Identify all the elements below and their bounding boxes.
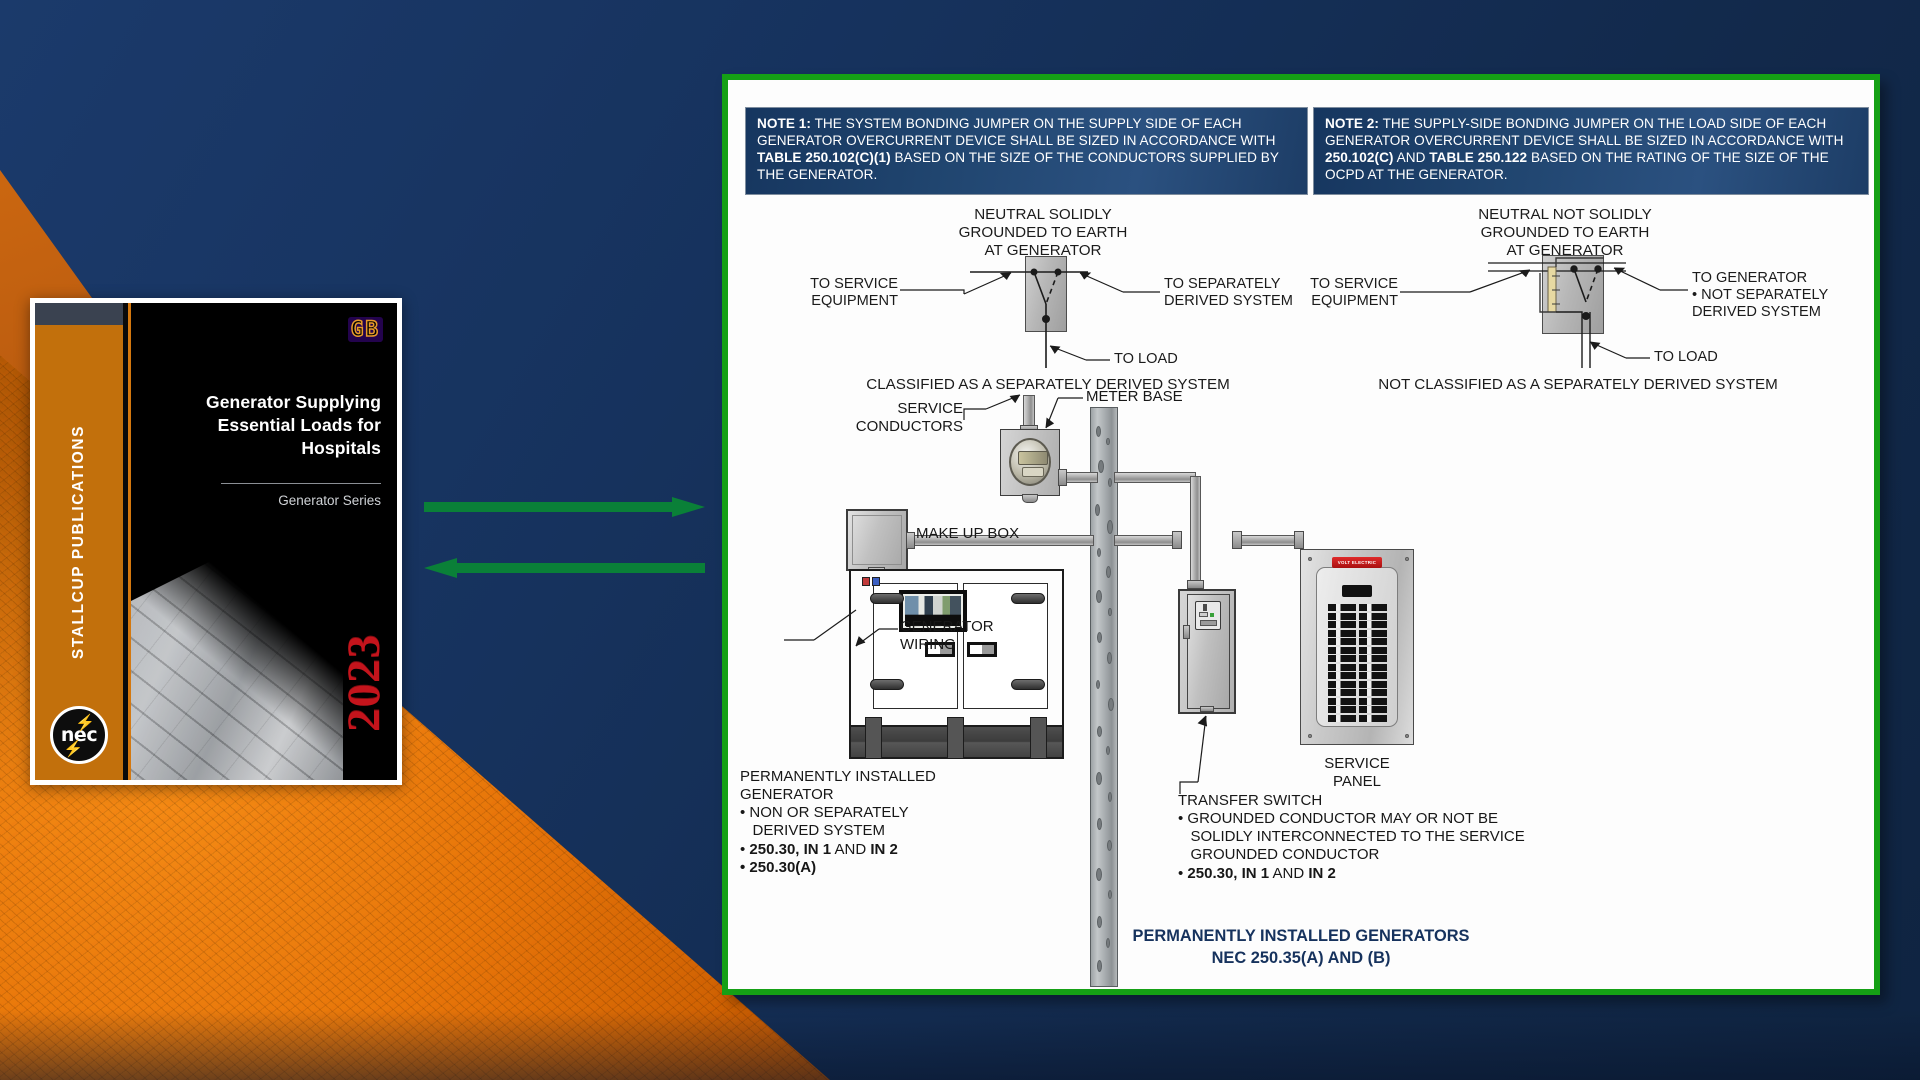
book-cover[interactable]: STALLCUP PUBLICATIONS ⚡ nec ⚡ GB Generat… bbox=[30, 298, 402, 785]
book-spine: STALLCUP PUBLICATIONS ⚡ nec ⚡ bbox=[35, 303, 123, 780]
label-meter-base: METER BASE bbox=[1086, 388, 1183, 406]
book-spine-cap bbox=[35, 303, 123, 325]
gb-logo-text: GB bbox=[351, 318, 380, 341]
transfer-switch-note-block: TRANSFER SWITCH • GROUNDED CONDUCTOR MAY… bbox=[1178, 792, 1618, 883]
book-title-rule bbox=[221, 483, 381, 484]
diagram-panel[interactable]: NOTE 1: THE SYSTEM BONDING JUMPER ON THE… bbox=[722, 74, 1880, 995]
caption-line-1: PERMANENTLY INSTALLED GENERATORS bbox=[728, 925, 1874, 947]
book-cover-inner: STALLCUP PUBLICATIONS ⚡ nec ⚡ GB Generat… bbox=[35, 303, 397, 780]
diagram-caption: PERMANENTLY INSTALLED GENERATORS NEC 250… bbox=[728, 925, 1874, 969]
transfer-note-line-2: • GROUNDED CONDUCTOR MAY OR NOT BE bbox=[1178, 810, 1618, 828]
cover-photo-mask bbox=[131, 530, 371, 780]
code-ref: IN 2 bbox=[1308, 865, 1336, 882]
transfer-note-line-4: GROUNDED CONDUCTOR bbox=[1178, 846, 1618, 864]
book-front-face: GB Generator Supplying Essential Loads f… bbox=[131, 303, 397, 780]
generator-note-line-3: • NON OR SEPARATELY bbox=[740, 804, 1000, 822]
nec-logo-icon: ⚡ nec ⚡ bbox=[50, 706, 108, 764]
arrow-left-icon bbox=[424, 558, 705, 578]
book-series: Generator Series bbox=[166, 493, 381, 508]
code-ref: 250.30, IN 1 bbox=[1187, 865, 1269, 882]
generator-note-line-2: GENERATOR bbox=[740, 786, 1000, 804]
lightning-bolt-icon: ⚡ bbox=[75, 716, 95, 732]
diagram-canvas: NOTE 1: THE SYSTEM BONDING JUMPER ON THE… bbox=[728, 80, 1874, 989]
generator-note-line-5: • 250.30, IN 1 AND IN 2 bbox=[740, 841, 1000, 859]
transfer-note-line-5: • 250.30, IN 1 AND IN 2 bbox=[1178, 865, 1618, 883]
caption-line-2: NEC 250.35(A) AND (B) bbox=[728, 947, 1874, 969]
publisher-name: STALLCUP PUBLICATIONS bbox=[70, 424, 88, 658]
lightning-bolt-icon: ⚡ bbox=[63, 739, 83, 755]
transfer-note-line-3: SOLIDLY INTERCONNECTED TO THE SERVICE bbox=[1178, 828, 1618, 846]
code-ref: 250.30, IN 1 bbox=[749, 841, 831, 858]
generator-note-line-1: PERMANENTLY INSTALLED bbox=[740, 768, 1000, 786]
transfer-note-line-1: TRANSFER SWITCH bbox=[1178, 792, 1618, 810]
bullet: • bbox=[1178, 865, 1187, 882]
background-bottom-shadow bbox=[0, 1010, 1920, 1080]
generator-note-line-4: DERIVED SYSTEM bbox=[740, 822, 1000, 840]
generator-note-line-6: • 250.30(A) bbox=[740, 859, 1000, 877]
book-year: 2023 bbox=[337, 634, 391, 732]
book-title: Generator Supplying Essential Loads for … bbox=[166, 391, 381, 460]
label-service-panel: SERVICE PANEL bbox=[1300, 755, 1414, 791]
bullet: • bbox=[740, 841, 749, 858]
arrow-right-icon bbox=[424, 497, 705, 517]
gb-brand-logo: GB bbox=[348, 317, 383, 342]
label-service-conductors: SERVICE CONDUCTORS bbox=[788, 400, 963, 436]
label-make-up-box: MAKE UP BOX bbox=[916, 525, 1019, 543]
generator-note-block: PERMANENTLY INSTALLED GENERATOR • NON OR… bbox=[740, 768, 1000, 877]
conjunction: AND bbox=[831, 841, 870, 858]
label-generator-wiring: GENERATOR WIRING bbox=[900, 618, 994, 654]
conjunction: AND bbox=[1269, 865, 1308, 882]
code-ref: IN 2 bbox=[870, 841, 898, 858]
